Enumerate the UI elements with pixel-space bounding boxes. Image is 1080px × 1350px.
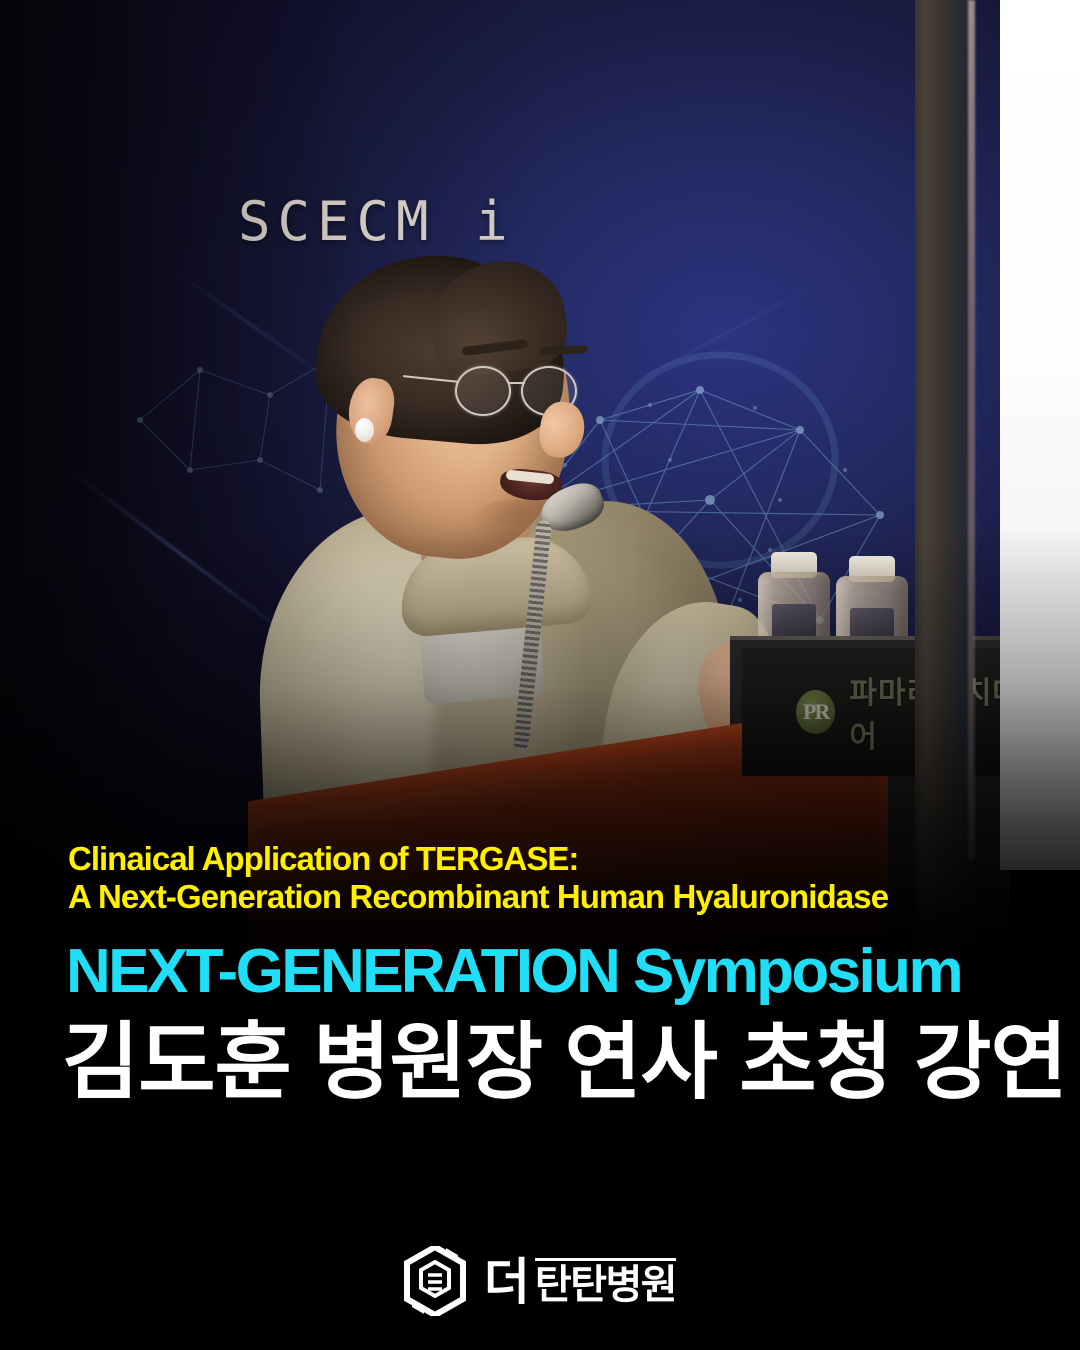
- headline-korean: 김도훈 병원장 연사 초청 강연: [0, 1015, 1080, 1109]
- pharma-research-logo-icon: PR: [796, 690, 835, 734]
- event-photo: SCECM i: [0, 0, 1080, 980]
- headline-english: NEXT-GENERATION Symposium: [0, 941, 1080, 1003]
- logo-prefix: 더: [484, 1260, 528, 1304]
- poster-canvas: SCECM i: [0, 0, 1080, 1350]
- brand-logo[interactable]: 더 탄탄병원: [0, 1246, 1080, 1316]
- eyeglass-lens: [455, 366, 511, 416]
- title-block: Clinaical Application of TERGASE: A Next…: [0, 840, 1080, 1109]
- wall-pillar: [915, 0, 973, 980]
- subtitle: Clinaical Application of TERGASE: A Next…: [0, 840, 1080, 917]
- hexagon-cube-logo-icon: [404, 1246, 466, 1316]
- logo-name: 탄탄병원: [535, 1266, 676, 1304]
- subtitle-line-1: Clinaical Application of TERGASE:: [68, 840, 1080, 878]
- projection-screen: [1000, 0, 1080, 870]
- earphone-icon: [355, 418, 374, 442]
- subtitle-line-2: A Next-Generation Recombinant Human Hyal…: [68, 878, 1080, 916]
- eyeglass-bridge: [509, 382, 525, 384]
- pillar-highlight: [968, 0, 975, 860]
- logo-rule: [535, 1258, 676, 1261]
- logo-name-box: 탄탄병원: [535, 1258, 676, 1304]
- logo-wordmark: 더 탄탄병원: [484, 1258, 676, 1304]
- speaker-eyebrow: [540, 345, 588, 355]
